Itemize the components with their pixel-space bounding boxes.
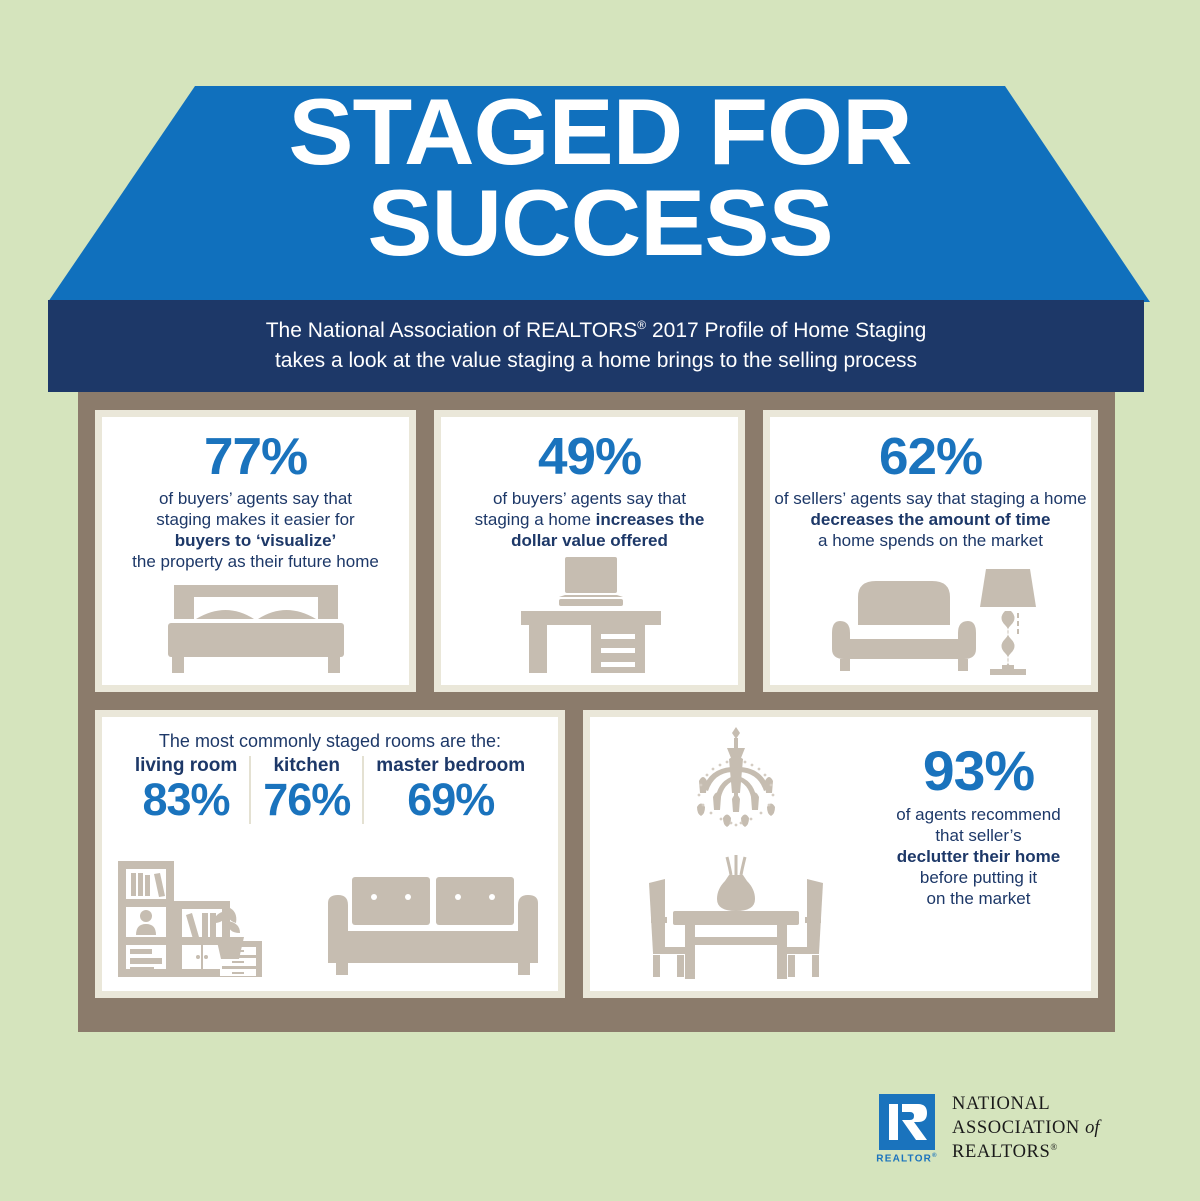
registered-mark: ®	[1050, 1142, 1057, 1152]
subtitle-text: The National Association of REALTORS® 20…	[266, 316, 927, 376]
stat-description: of sellers’ agents say that staging a ho…	[774, 488, 1086, 551]
rooms-heading: The most commonly staged rooms are the:	[159, 731, 501, 752]
stat-card-visualize: 77% of buyers’ agents say that staging m…	[95, 410, 416, 692]
house-body: 77% of buyers’ agents say that staging m…	[78, 392, 1115, 1032]
stat-card-row-bottom: The most commonly staged rooms are the: …	[95, 710, 1098, 998]
armchair-lamp-icon	[770, 551, 1091, 685]
stat-card-time-on-market: 62% of sellers’ agents say that staging …	[763, 410, 1098, 692]
room-stat-kitchen: kitchen 76%	[249, 756, 362, 824]
rooms-icon-area	[102, 824, 558, 991]
stat-line: the property as their future home	[132, 551, 379, 572]
logo-line-1: NATIONAL	[952, 1093, 1100, 1117]
rooms-stat-row: living room 83% kitchen 76% master bedro…	[102, 756, 558, 824]
realtor-wordmark: REALTOR®	[876, 1153, 937, 1164]
stat-line: of sellers’ agents say that staging a ho…	[774, 488, 1086, 509]
registered-mark: ®	[637, 318, 646, 332]
stat-percent: 93%	[923, 743, 1034, 799]
rooms-card: The most commonly staged rooms are the: …	[95, 710, 565, 998]
room-percent: 76%	[263, 777, 350, 824]
stat-line: staging makes it easier for	[132, 509, 379, 530]
stat-line: on the market	[896, 888, 1060, 909]
roof: STAGED FOR SUCCESS	[0, 0, 1200, 302]
declutter-icon-area	[590, 717, 882, 991]
desk-icon	[441, 551, 738, 685]
stat-line-bold: buyers to ‘visualize’	[175, 531, 337, 550]
subtitle-line-1: The National Association of REALTORS® 20…	[266, 316, 927, 346]
bookshelf-icon	[116, 859, 264, 979]
stat-percent: 77%	[204, 431, 307, 483]
stat-line-bold: decreases the amount of time	[811, 510, 1051, 529]
sofa-icon	[324, 873, 544, 979]
stat-percent: 49%	[538, 431, 641, 483]
declutter-card: 93% of agents recommend that seller’s de…	[583, 710, 1098, 998]
dining-table-icon	[641, 855, 831, 980]
room-stat-living-room: living room 83%	[123, 756, 249, 824]
realtor-mark: REALTOR®	[876, 1094, 938, 1164]
title-line-2: SUCCESS	[0, 177, 1200, 268]
room-stat-master-bedroom: master bedroom 69%	[362, 756, 537, 824]
title-line-1: STAGED FOR	[0, 86, 1200, 177]
stat-line: staging a home	[475, 510, 596, 529]
room-percent: 69%	[376, 777, 525, 824]
page-title: STAGED FOR SUCCESS	[0, 86, 1200, 268]
declutter-text: 93% of agents recommend that seller’s de…	[882, 717, 1091, 991]
stat-line: of buyers’ agents say that	[475, 488, 705, 509]
stat-line: that seller’s	[896, 825, 1060, 846]
stat-line-bold: increases the	[596, 510, 705, 529]
stat-card-dollar-value: 49% of buyers’ agents say that staging a…	[434, 410, 745, 692]
realtor-block-r-icon	[879, 1094, 935, 1150]
stat-line: before putting it	[896, 867, 1060, 888]
stat-description: of buyers’ agents say that staging makes…	[132, 488, 379, 572]
stat-line: of agents recommend	[896, 804, 1060, 825]
stat-card-row-top: 77% of buyers’ agents say that staging m…	[95, 410, 1098, 692]
stat-line-bold: declutter their home	[897, 847, 1060, 866]
nar-logo: REALTOR® NATIONAL ASSOCIATION of REALTOR…	[876, 1086, 1126, 1172]
chandelier-icon	[661, 725, 811, 841]
nar-logo-text: NATIONAL ASSOCIATION of REALTORS®	[952, 1093, 1100, 1164]
room-percent: 83%	[135, 777, 237, 824]
stat-description: of buyers’ agents say that staging a hom…	[475, 488, 705, 551]
subtitle-band: The National Association of REALTORS® 20…	[48, 300, 1144, 392]
stat-line-bold: dollar value offered	[511, 531, 668, 550]
logo-line-3: REALTORS®	[952, 1141, 1100, 1165]
stat-line: a home spends on the market	[774, 530, 1086, 551]
subtitle-line-1-b: 2017 Profile of Home Staging	[646, 319, 926, 342]
subtitle-line-2: takes a look at the value staging a home…	[266, 346, 927, 376]
subtitle-line-1-a: The National Association of REALTORS	[266, 319, 638, 342]
stat-line: of buyers’ agents say that	[132, 488, 379, 509]
logo-line-2: ASSOCIATION of	[952, 1117, 1100, 1141]
stat-percent: 62%	[879, 431, 982, 483]
bed-icon	[102, 572, 409, 685]
registered-mark: ®	[932, 1153, 938, 1159]
stat-description: of agents recommend that seller’s declut…	[896, 804, 1060, 909]
